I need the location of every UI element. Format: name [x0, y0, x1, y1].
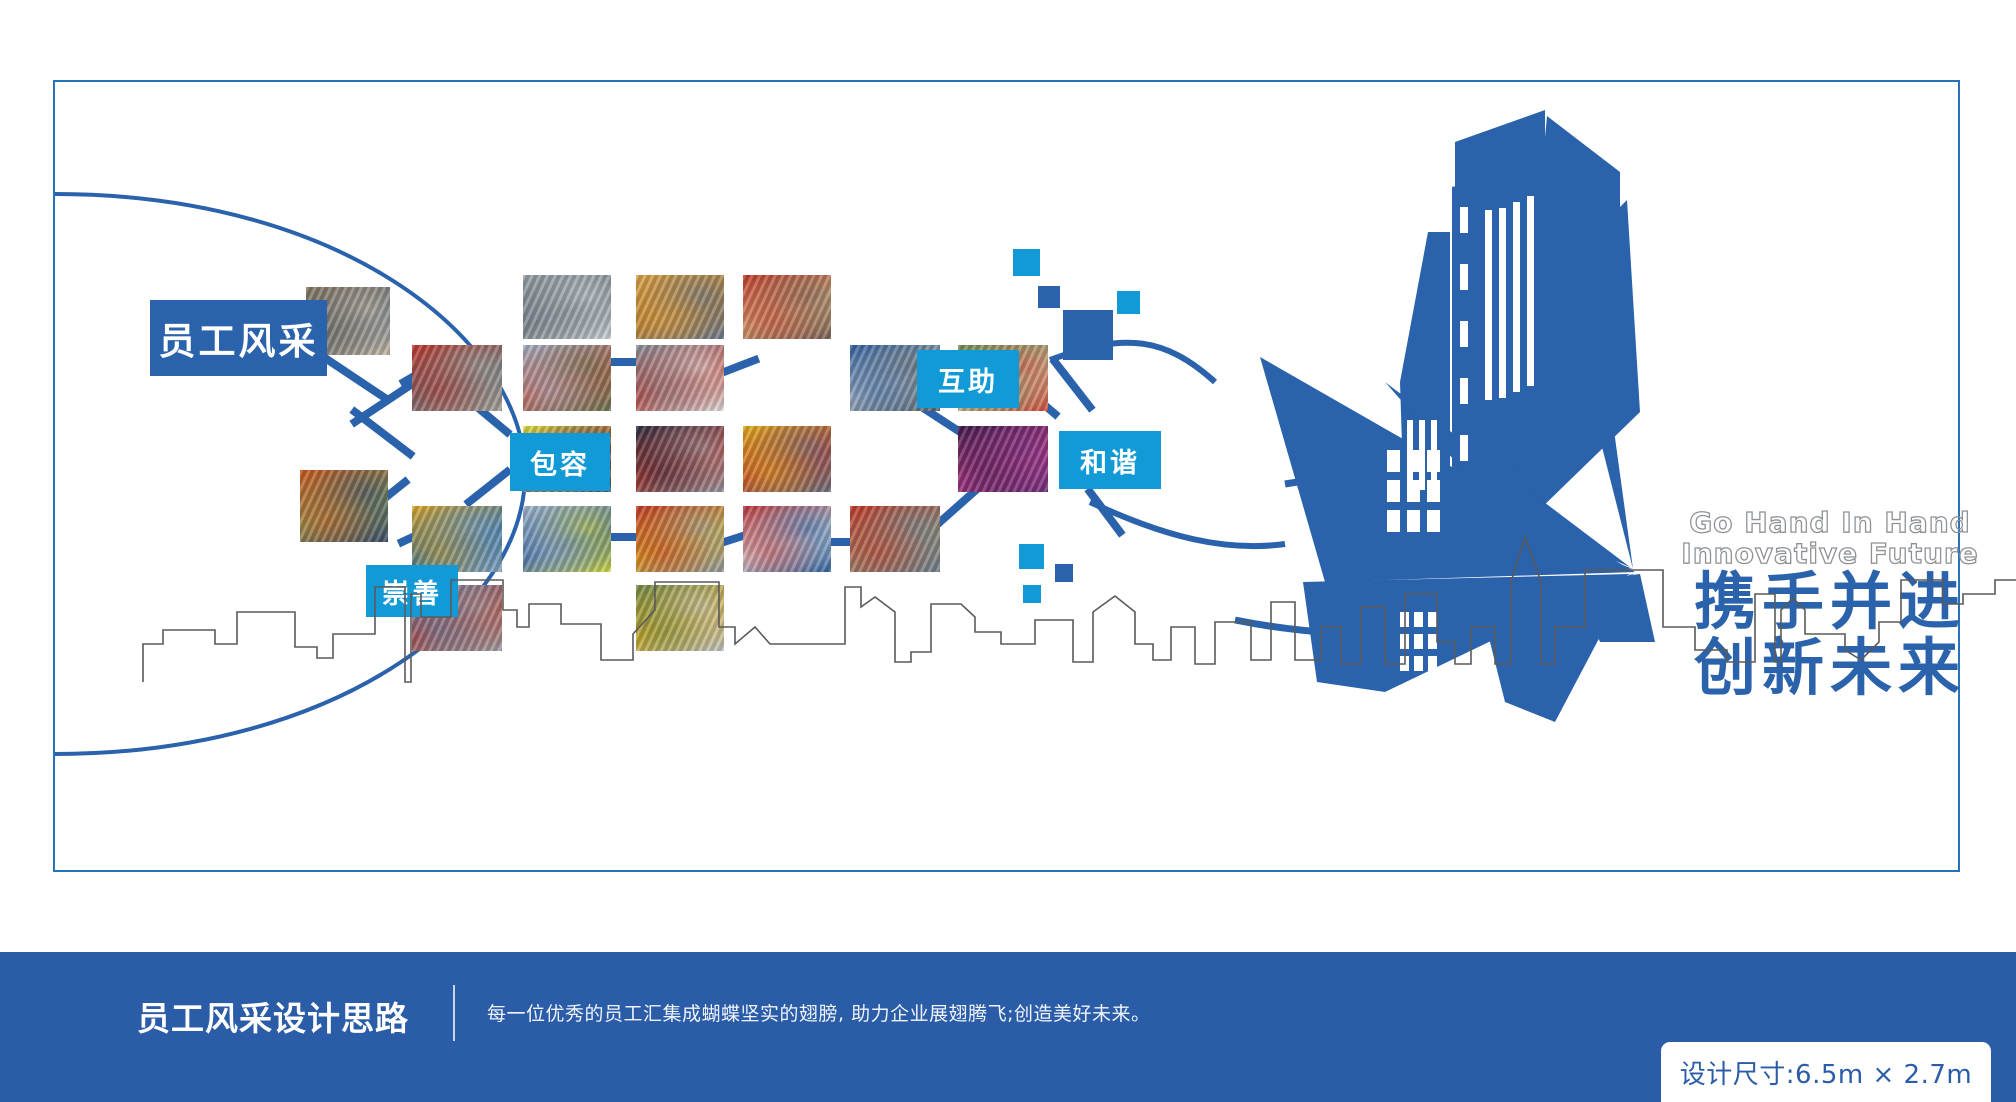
design-size-badge: 设计尺寸:6.5m × 2.7m	[1661, 1042, 1991, 1102]
footer-divider	[453, 985, 455, 1041]
city-skyline-outline	[55, 82, 1958, 870]
footer-title: 员工风采设计思路	[137, 992, 409, 1040]
skyline-path	[143, 537, 2016, 682]
poster-canvas: 员工风采 包容崇善互助和谐 Go Hand In Hand Innovative…	[53, 80, 1960, 872]
footer-description: 每一位优秀的员工汇集成蝴蝶坚实的翅膀, 助力企业展翅腾飞;创造美好未来。	[487, 999, 1150, 1026]
